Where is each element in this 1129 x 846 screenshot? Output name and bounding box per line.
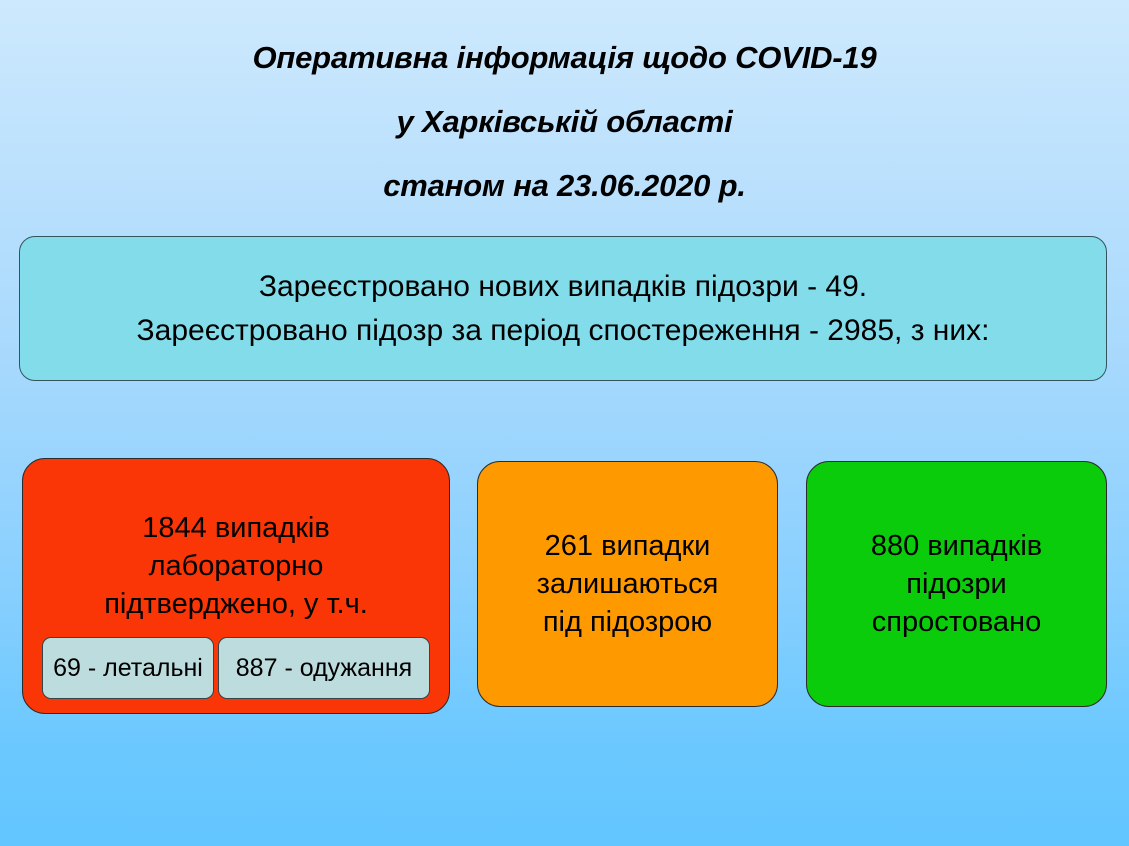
card-under-suspicion-line-3: під підозрою: [543, 603, 712, 641]
card-suspicion-refuted: 880 випадків підозри спростовано: [806, 461, 1107, 707]
card-lab-confirmed-subboxes: 69 - летальні 887 - одужання: [23, 637, 449, 699]
title-line-2: у Харківській області: [0, 90, 1129, 154]
summary-line-total-cases: Зареєстровано підозр за період спостереж…: [137, 309, 990, 353]
card-lab-confirmed-line-3: підтверджено, у т.ч.: [104, 585, 368, 623]
sub-box-deaths-label: 69 - летальні: [53, 654, 203, 682]
sub-box-deaths: 69 - летальні: [42, 637, 214, 699]
card-suspicion-refuted-line-1: 880 випадків: [871, 527, 1042, 565]
title-line-1: Оперативна інформація щодо COVID-19: [0, 26, 1129, 90]
card-suspicion-refuted-line-2: підозри: [906, 565, 1007, 603]
card-under-suspicion-line-1: 261 випадки: [545, 527, 711, 565]
summary-line-new-cases: Зареєстровано нових випадків підозри - 4…: [259, 265, 867, 309]
card-suspicion-refuted-line-3: спростовано: [872, 603, 1041, 641]
page-title: Оперативна інформація щодо COVID-19 у Ха…: [0, 26, 1129, 218]
sub-box-recovered: 887 - одужання: [218, 637, 430, 699]
card-lab-confirmed-line-1: 1844 випадків: [142, 509, 329, 547]
sub-box-recovered-label: 887 - одужання: [236, 654, 412, 682]
card-under-suspicion: 261 випадки залишаються під підозрою: [477, 461, 778, 707]
summary-panel: Зареєстровано нових випадків підозри - 4…: [19, 236, 1107, 381]
title-line-3: станом на 23.06.2020 р.: [0, 154, 1129, 218]
card-lab-confirmed-line-2: лабораторно: [149, 547, 324, 585]
card-lab-confirmed: 1844 випадків лабораторно підтверджено, …: [22, 458, 450, 714]
card-under-suspicion-line-2: залишаються: [537, 565, 719, 603]
